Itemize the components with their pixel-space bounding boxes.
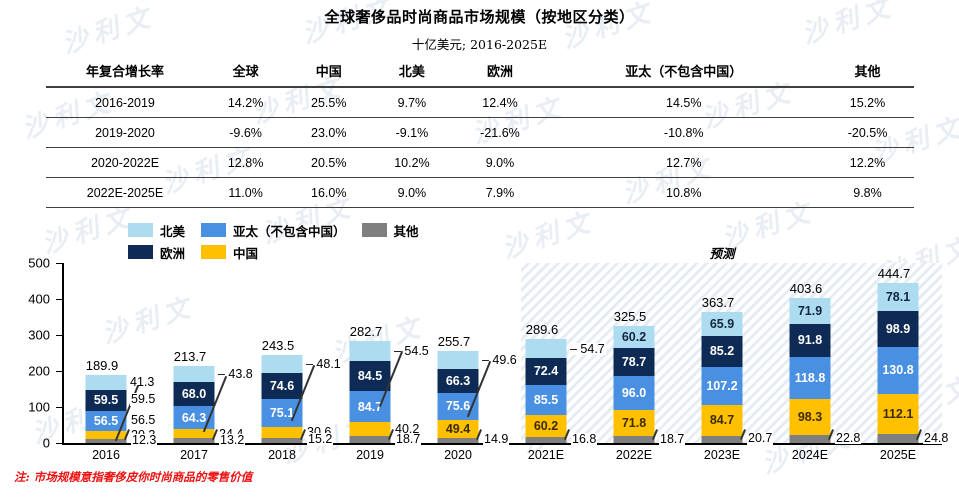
table-column-header: 中国 xyxy=(287,55,370,87)
legend-swatch xyxy=(362,223,387,237)
bar-segment[interactable] xyxy=(262,427,303,438)
table-row: 2022E-2025E11.0%16.0%9.0%7.9%10.8%9.8% xyxy=(46,178,914,208)
table-cell-value: 20.5% xyxy=(287,148,370,178)
bar-segment[interactable]: 84.5 xyxy=(350,361,391,391)
bar-value-callout: 15.2 xyxy=(307,433,333,446)
table-cell-period: 2016-2019 xyxy=(46,87,204,118)
legend-row-1: 北美亚太（不包含中国）其他 xyxy=(128,219,435,241)
bar-value-label: 65.9 xyxy=(708,317,736,332)
bar-total-label: 282.7 xyxy=(350,324,383,339)
y-axis-tick-label: 500 xyxy=(0,256,50,271)
bar-segment[interactable]: 78.1 xyxy=(878,283,919,311)
bar-total-label: 403.6 xyxy=(790,281,823,296)
legend-swatch xyxy=(128,223,153,237)
bar-stack[interactable]: 72.485.560.2 xyxy=(526,339,567,443)
bar-stack[interactable]: 59.556.5 xyxy=(86,375,127,443)
table-cell-period: 2020-2022E xyxy=(46,148,204,178)
bar-value-label: 66.3 xyxy=(444,373,472,388)
bar-segment[interactable]: 84.7 xyxy=(702,405,743,435)
bar-value-label: 78.1 xyxy=(884,290,912,305)
y-axis-tick-label: 200 xyxy=(0,364,50,379)
bar-total-label: 213.7 xyxy=(174,349,207,364)
table-cell-value: 16.0% xyxy=(287,178,370,208)
table-cell-value: 14.2% xyxy=(204,87,287,118)
table-cell-value: 12.7% xyxy=(546,148,821,178)
table-cell-value: 23.0% xyxy=(287,118,370,148)
legend-item[interactable]: 其他 xyxy=(362,221,419,240)
bar-value-label: 49.4 xyxy=(444,422,472,437)
page-title: 全球奢侈品时尚商品市场规模（按地区分类） xyxy=(0,6,959,27)
bar-segment[interactable] xyxy=(526,339,567,359)
x-axis-tick-label: 2019 xyxy=(356,448,384,462)
bar-segment[interactable]: 72.4 xyxy=(526,358,567,384)
bar-value-label: 78.7 xyxy=(620,354,648,369)
bar-value-label: 60.2 xyxy=(620,329,648,344)
bar-value-label: 107.2 xyxy=(704,379,739,394)
table-cell-value: 14.5% xyxy=(546,87,821,118)
y-axis-tick-mark xyxy=(56,407,62,408)
bar-segment[interactable]: 78.7 xyxy=(614,348,655,376)
bar-segment[interactable] xyxy=(262,355,303,372)
bar-value-label: 60.2 xyxy=(532,419,560,434)
table-column-header: 年复合增长率 xyxy=(46,55,204,87)
table-column-header: 北美 xyxy=(370,55,453,87)
bar-segment[interactable]: 68.0 xyxy=(174,382,215,406)
x-axis-tick-label: 2017 xyxy=(180,448,208,462)
bar-value-label: 71.9 xyxy=(796,303,824,318)
y-axis-line xyxy=(62,263,64,443)
x-axis-tick-label: 2021E xyxy=(528,448,564,462)
bar-segment[interactable]: 130.8 xyxy=(878,347,919,394)
bar-total-label: 255.7 xyxy=(438,334,471,349)
table-column-header: 全球 xyxy=(204,55,287,87)
bar-total-label: 243.5 xyxy=(262,338,295,353)
y-axis-tick-mark xyxy=(56,443,62,444)
bar-segment[interactable] xyxy=(350,422,391,436)
table-cell-value: 25.5% xyxy=(287,87,370,118)
table-cell-value: 9.7% xyxy=(370,87,453,118)
legend-item[interactable]: 北美 xyxy=(128,221,185,240)
bar-value-callout: 59.5 xyxy=(130,393,156,406)
table-column-header: 欧洲 xyxy=(454,55,547,87)
bar-segment[interactable]: 65.9 xyxy=(702,312,743,336)
bar-stack[interactable]: 60.278.796.071.8 xyxy=(614,326,655,443)
bar-segment[interactable] xyxy=(438,351,479,369)
table-cell-period: 2022E-2025E xyxy=(46,178,204,208)
table-cell-value: 9.0% xyxy=(370,178,453,208)
legend-swatch xyxy=(201,223,226,237)
bar-value-callout: 18.7 xyxy=(659,433,685,446)
bar-value-callout: 13.2 xyxy=(219,434,245,447)
x-axis-tick-label: 2022E xyxy=(616,448,652,462)
bar-value-label: 91.8 xyxy=(796,333,824,348)
legend-label: 北美 xyxy=(160,221,185,240)
bar-value-callout: 41.3 xyxy=(129,376,155,389)
table-cell-value: -9.6% xyxy=(204,118,287,148)
bar-segment[interactable] xyxy=(86,431,127,438)
table-row: 2016-201914.2%25.5%9.7%12.4%14.5%15.2% xyxy=(46,87,914,118)
bar-segment[interactable] xyxy=(350,436,391,443)
x-axis-tick-label: 2020 xyxy=(444,448,472,462)
table-cell-value: 12.2% xyxy=(821,148,914,178)
bar-value-label: 98.3 xyxy=(796,410,824,425)
bar-value-label: 74.6 xyxy=(268,379,296,394)
bar-segment[interactable] xyxy=(702,436,743,443)
bar-value-callout: – 54.7 xyxy=(569,343,606,356)
bar-segment[interactable]: 60.2 xyxy=(526,415,567,437)
table-row: 2019-2020-9.6%23.0%-9.1%-21.6%-10.8%-20.… xyxy=(46,118,914,148)
bar-segment[interactable]: 74.6 xyxy=(262,373,303,400)
bar-value-callout: 20.7 xyxy=(747,432,773,445)
legend-label: 亚太（不包含中国） xyxy=(233,221,346,240)
bar-value-label: 59.5 xyxy=(92,393,120,408)
stacked-bar-chart: 0100200300400500预测201659.556.5189.941.32… xyxy=(0,255,959,465)
cagr-table: 年复合增长率全球中国北美欧洲亚太（不包含中国）其他 2016-201914.2%… xyxy=(46,55,914,208)
bar-value-label: 112.1 xyxy=(881,407,916,422)
bar-segment[interactable]: 98.9 xyxy=(878,311,919,347)
bar-segment[interactable] xyxy=(174,438,215,443)
legend-label: 其他 xyxy=(394,221,419,240)
bar-stack[interactable]: 71.991.8118.898.3 xyxy=(790,298,831,443)
bar-value-label: 71.8 xyxy=(620,416,648,431)
x-axis-tick-label: 2018 xyxy=(268,448,296,462)
bar-total-label: 325.5 xyxy=(614,309,647,324)
table-cell-value: -10.8% xyxy=(546,118,821,148)
y-axis-tick-label: 300 xyxy=(0,328,50,343)
bar-stack[interactable]: 78.198.9130.8112.1 xyxy=(878,283,919,443)
bar-stack[interactable]: 68.064.3 xyxy=(174,366,215,443)
page-subtitle: 十亿美元; 2016-2025E xyxy=(0,34,959,53)
table-cell-value: 10.8% xyxy=(546,178,821,208)
table-cell-value: 10.2% xyxy=(370,148,453,178)
table-row: 2020-2022E12.8%20.5%10.2%9.0%12.7%12.2% xyxy=(46,148,914,178)
bar-value-label: 96.0 xyxy=(620,386,648,401)
forecast-annotation: 预测 xyxy=(709,243,734,262)
y-axis-tick-mark xyxy=(56,299,62,300)
bar-total-label: 189.9 xyxy=(86,358,119,373)
table-header-row: 年复合增长率全球中国北美欧洲亚太（不包含中国）其他 xyxy=(46,55,914,87)
table-cell-value: 9.8% xyxy=(821,178,914,208)
x-axis-tick-label: 2024E xyxy=(792,448,828,462)
bar-segment[interactable] xyxy=(262,438,303,443)
x-axis-tick-label: 2023E xyxy=(704,448,740,462)
bar-value-callout: 18.7 xyxy=(395,433,421,446)
bar-value-label: 56.5 xyxy=(92,414,120,429)
bar-segment[interactable] xyxy=(526,437,567,443)
bar-segment[interactable]: 85.2 xyxy=(702,336,743,367)
bar-segment[interactable]: 98.3 xyxy=(790,399,831,434)
bar-segment[interactable]: 60.2 xyxy=(614,326,655,348)
bar-segment[interactable]: 96.0 xyxy=(614,376,655,411)
bar-segment[interactable] xyxy=(790,435,831,443)
bar-segment[interactable]: 59.5 xyxy=(86,390,127,411)
y-axis-tick-mark xyxy=(56,335,62,336)
table-cell-value: 9.0% xyxy=(454,148,547,178)
bar-value-label: 85.5 xyxy=(532,393,560,408)
bar-value-callout: 12.3 xyxy=(131,434,157,447)
table-cell-value: 12.8% xyxy=(204,148,287,178)
bar-value-label: 98.9 xyxy=(884,322,912,337)
bar-segment[interactable] xyxy=(86,439,127,443)
bar-segment[interactable]: 112.1 xyxy=(878,394,919,434)
bar-value-callout: 56.5 xyxy=(130,414,156,427)
x-axis-tick-label: 2016 xyxy=(92,448,120,462)
bar-segment[interactable] xyxy=(878,434,919,443)
bar-segment[interactable] xyxy=(438,438,479,443)
bar-segment[interactable]: 85.5 xyxy=(526,385,567,416)
table-cell-value: 12.4% xyxy=(454,87,547,118)
bar-segment[interactable] xyxy=(350,341,391,361)
table-cell-value: -9.1% xyxy=(370,118,453,148)
bar-segment[interactable] xyxy=(614,436,655,443)
bar-segment[interactable]: 66.3 xyxy=(438,369,479,393)
y-axis-tick-mark xyxy=(56,263,62,264)
bar-value-label: 64.3 xyxy=(180,411,208,426)
bar-value-callout: 24.8 xyxy=(923,432,949,445)
table-cell-value: -21.6% xyxy=(454,118,547,148)
y-axis-tick-label: 100 xyxy=(0,400,50,415)
bar-value-callout: 14.9 xyxy=(483,433,509,446)
table-cell-value: 15.2% xyxy=(821,87,914,118)
bar-value-label: 130.8 xyxy=(880,363,915,378)
bar-segment[interactable]: 49.4 xyxy=(438,420,479,438)
bar-stack[interactable]: 65.985.2107.284.7 xyxy=(702,312,743,443)
bar-segment[interactable] xyxy=(174,366,215,382)
table-column-header: 亚太（不包含中国） xyxy=(546,55,821,87)
bar-stack[interactable]: 66.375.649.4 xyxy=(438,351,479,443)
bar-segment[interactable]: 91.8 xyxy=(790,324,831,357)
legend-item[interactable]: 亚太（不包含中国） xyxy=(201,221,346,240)
bar-segment[interactable] xyxy=(86,375,127,390)
chart-header: 全球奢侈品时尚商品市场规模（按地区分类） 十亿美元; 2016-2025E xyxy=(0,6,959,53)
table-cell-value: 7.9% xyxy=(454,178,547,208)
bar-value-callout: – 43.8 xyxy=(217,368,254,381)
bar-stack[interactable]: 74.675.1 xyxy=(262,355,303,443)
bar-total-label: 289.6 xyxy=(526,322,559,337)
bar-value-label: 68.0 xyxy=(180,387,208,402)
x-axis-tick-label: 2025E xyxy=(880,448,916,462)
bar-value-label: 72.4 xyxy=(532,364,560,379)
bar-segment[interactable]: 71.8 xyxy=(614,410,655,436)
bar-segment[interactable]: 71.9 xyxy=(790,298,831,324)
bar-segment[interactable]: 107.2 xyxy=(702,367,743,406)
y-axis-tick-mark xyxy=(56,371,62,372)
bar-value-label: 84.7 xyxy=(708,413,736,428)
bar-value-label: 84.5 xyxy=(356,369,384,384)
bar-total-label: 363.7 xyxy=(702,295,735,310)
table-cell-value: -20.5% xyxy=(821,118,914,148)
footnote: 注: 市场规模意指奢侈皮你时尚商品的零售价值 xyxy=(14,469,252,485)
table-cell-value: 11.0% xyxy=(204,178,287,208)
y-axis-tick-label: 0 xyxy=(0,436,50,451)
bar-value-callout: 16.8 xyxy=(571,433,597,446)
bar-segment[interactable] xyxy=(174,429,215,438)
bar-value-label: 85.2 xyxy=(708,344,736,359)
table-cell-period: 2019-2020 xyxy=(46,118,204,148)
bar-value-callout: 22.8 xyxy=(835,432,861,445)
bar-value-label: 118.8 xyxy=(793,371,828,386)
table-column-header: 其他 xyxy=(821,55,914,87)
y-axis-tick-label: 400 xyxy=(0,292,50,307)
bar-total-label: 444.7 xyxy=(878,266,911,281)
bar-segment[interactable]: 118.8 xyxy=(790,357,831,400)
